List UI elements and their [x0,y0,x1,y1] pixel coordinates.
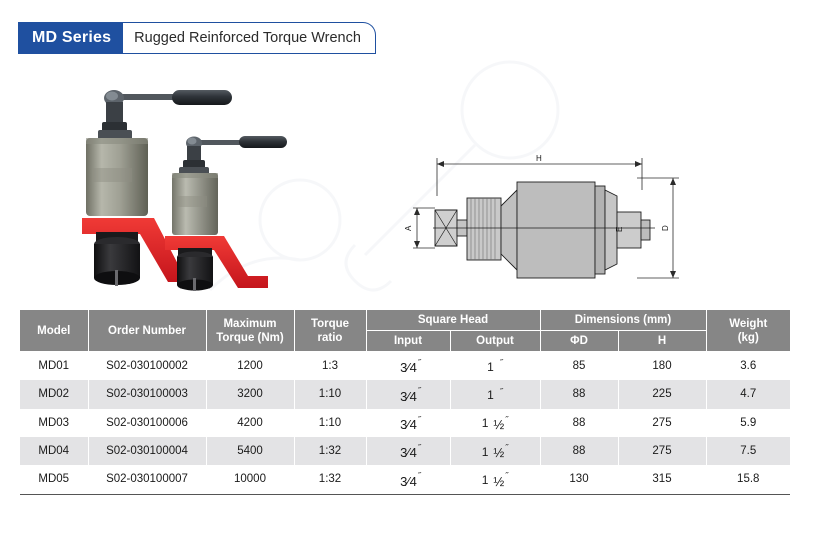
cell-output: 1½˝ [450,409,540,437]
cell-output: 1˝ [450,352,540,381]
product-spec-sheet: MD Series Rugged Reinforced Torque Wrenc… [0,0,815,544]
cell-model: MD02 [20,380,88,408]
col-header-input: Input [366,331,450,352]
cell-output: 1˝ [450,380,540,408]
drawing-label-h: H [536,154,542,163]
cell-max-torque: 4200 [206,409,294,437]
drawing-label-e: E [615,227,624,232]
cell-weight: 15.8 [706,465,790,494]
col-header-h: H [618,331,706,352]
cell-output: 1½˝ [450,465,540,494]
cell-torque-ratio: 1:3 [294,352,366,381]
series-description: Rugged Reinforced Torque Wrench [123,22,376,54]
col-header-weight: Weight (kg) [706,310,790,352]
max-torque-line2: Torque (Nm) [216,332,284,344]
cell-weight: 4.7 [706,380,790,408]
cell-weight: 5.9 [706,409,790,437]
cell-max-torque: 1200 [206,352,294,381]
table-body: MD01 S02-030100002 1200 1:3 3⁄4˝ 1˝ 85 1… [20,352,790,494]
cell-max-torque: 3200 [206,380,294,408]
col-header-dimensions: Dimensions (mm) [540,310,706,331]
cell-h: 180 [618,352,706,381]
cell-h: 225 [618,380,706,408]
cell-phi-d: 85 [540,352,618,381]
cell-h: 275 [618,409,706,437]
weight-line2: (kg) [738,332,759,344]
cell-phi-d: 88 [540,437,618,465]
cell-order-number: S02-030100004 [88,437,206,465]
cell-order-number: S02-030100006 [88,409,206,437]
drawing-label-a: A [405,225,413,231]
table-header-row-1: Model Order Number Maximum Torque (Nm) T… [20,310,790,331]
table-row: MD02 S02-030100003 3200 1:10 3⁄4˝ 1˝ 88 … [20,380,790,408]
col-header-phi-d: ΦD [540,331,618,352]
table-row: MD04 S02-030100004 5400 1:32 3⁄4˝ 1½˝ 88… [20,437,790,465]
cell-input: 3⁄4˝ [366,465,450,494]
series-title-bar: MD Series Rugged Reinforced Torque Wrenc… [18,22,376,54]
cell-model: MD03 [20,409,88,437]
col-header-torque-ratio: Torque ratio [294,310,366,352]
cell-torque-ratio: 1:32 [294,437,366,465]
cell-max-torque: 5400 [206,437,294,465]
table-row: MD05 S02-030100007 10000 1:32 3⁄4˝ 1½˝ 1… [20,465,790,494]
cell-model: MD04 [20,437,88,465]
cell-phi-d: 130 [540,465,618,494]
cell-h: 275 [618,437,706,465]
drawing-label-d: D [661,225,670,231]
cell-h: 315 [618,465,706,494]
max-torque-line1: Maximum [223,318,276,330]
col-header-output: Output [450,331,540,352]
torque-ratio-line2: ratio [318,332,343,344]
cell-model: MD01 [20,352,88,381]
cell-input: 3⁄4˝ [366,352,450,381]
cell-torque-ratio: 1:32 [294,465,366,494]
col-header-square-head: Square Head [366,310,540,331]
cell-input: 3⁄4˝ [366,437,450,465]
cell-phi-d: 88 [540,409,618,437]
cell-input: 3⁄4˝ [366,380,450,408]
specification-table: Model Order Number Maximum Torque (Nm) T… [20,310,790,495]
table-row: MD01 S02-030100002 1200 1:3 3⁄4˝ 1˝ 85 1… [20,352,790,381]
col-header-order-number: Order Number [88,310,206,352]
cell-output: 1½˝ [450,437,540,465]
cell-weight: 3.6 [706,352,790,381]
cell-model: MD05 [20,465,88,494]
cell-order-number: S02-030100007 [88,465,206,494]
product-photo [62,72,312,300]
cell-max-torque: 10000 [206,465,294,494]
table-row: MD03 S02-030100006 4200 1:10 3⁄4˝ 1½˝ 88… [20,409,790,437]
cell-phi-d: 88 [540,380,618,408]
cell-torque-ratio: 1:10 [294,409,366,437]
torque-ratio-line1: Torque [311,318,349,330]
cell-weight: 7.5 [706,437,790,465]
col-header-maximum-torque: Maximum Torque (Nm) [206,310,294,352]
cell-order-number: S02-030100003 [88,380,206,408]
technical-drawing: H A E D [405,150,695,300]
weight-line1: Weight [729,318,767,330]
cell-torque-ratio: 1:10 [294,380,366,408]
series-tag: MD Series [18,22,123,54]
col-header-model: Model [20,310,88,352]
cell-order-number: S02-030100002 [88,352,206,381]
cell-input: 3⁄4˝ [366,409,450,437]
